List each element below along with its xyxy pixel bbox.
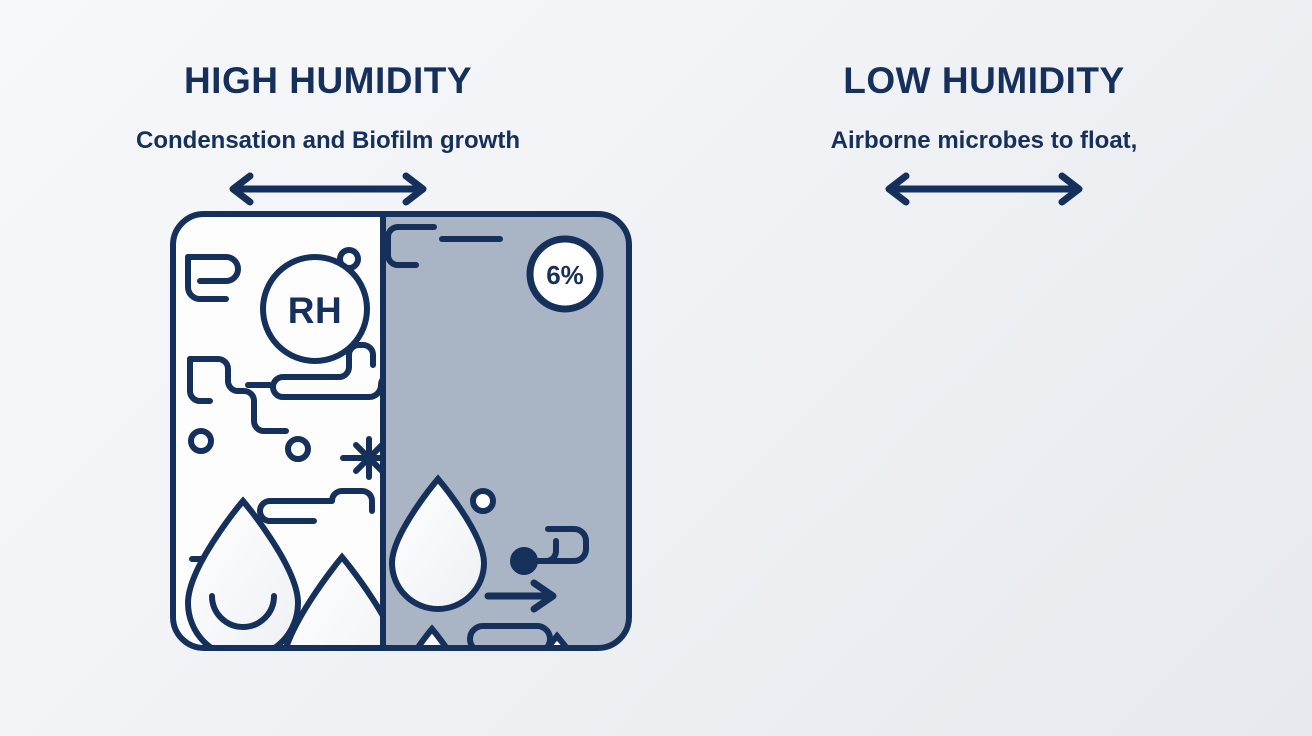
page-title-high-humidity: HIGH HUMIDITY (0, 62, 656, 101)
subtitle-high-humidity: Condensation and Biofilm growth (0, 128, 656, 154)
rh-badge-high: RH (263, 257, 367, 361)
percent-badge-high: 6% (530, 239, 600, 309)
rh-label: RH (288, 290, 342, 331)
panel-high-humidity: HIGH HUMIDITY Condensation and Biofilm g… (0, 0, 656, 736)
infographic-canvas: HIGH HUMIDITY Condensation and Biofilm g… (0, 0, 1312, 736)
page-title-low-humidity: LOW HUMIDITY (656, 62, 1312, 101)
panel-low-humidity: LOW HUMIDITY Airborne microbes to float, (656, 0, 1312, 736)
double-headed-arrow-high (212, 172, 444, 211)
double-headed-arrow-low (868, 172, 1100, 211)
card-high-humidity[interactable]: RH 6% (170, 211, 632, 656)
subtitle-low-humidity: Airborne microbes to float, (656, 128, 1312, 154)
percent-badge-label: 6% (546, 260, 584, 290)
